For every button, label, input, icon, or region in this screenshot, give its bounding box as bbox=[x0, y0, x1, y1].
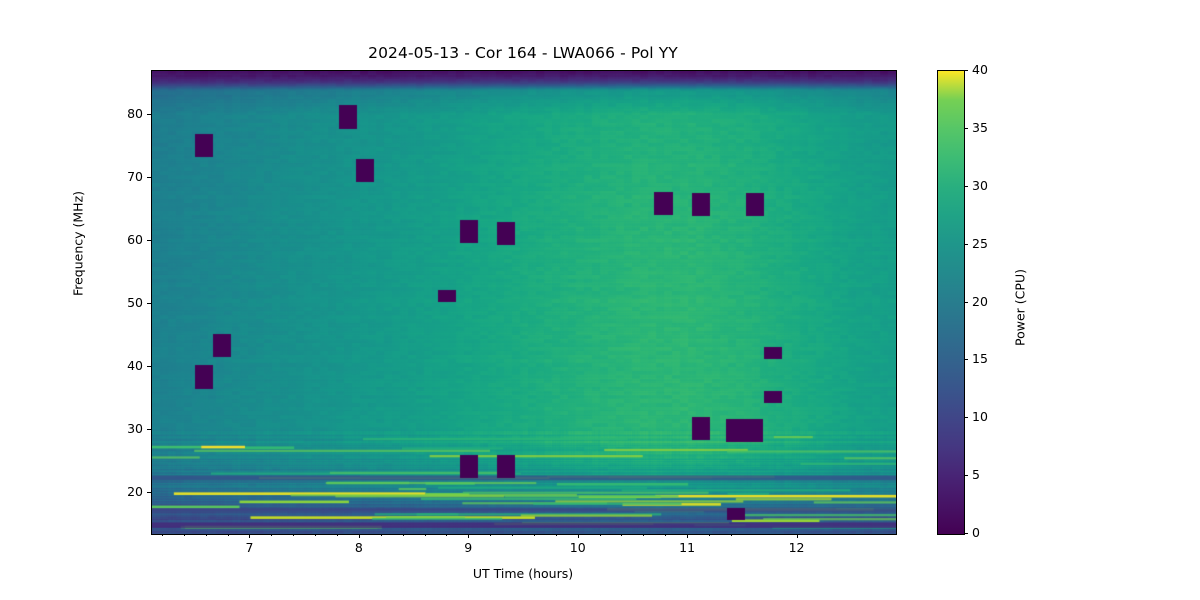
colorbar-label: Power (CPU) bbox=[1013, 188, 1028, 428]
colorbar-tick-label: 0 bbox=[972, 525, 980, 540]
x-tick-label: 10 bbox=[558, 540, 598, 555]
y-tick-mark bbox=[147, 303, 151, 304]
x-minor-tick bbox=[731, 534, 732, 536]
x-tick-label: 8 bbox=[339, 540, 379, 555]
chart-title: 2024-05-13 - Cor 164 - LWA066 - Pol YY bbox=[0, 44, 1046, 62]
x-tick-mark bbox=[578, 534, 579, 538]
x-minor-tick bbox=[425, 534, 426, 536]
y-tick-mark bbox=[147, 366, 151, 367]
colorbar-tick-mark bbox=[964, 186, 968, 187]
x-tick-label: 9 bbox=[448, 540, 488, 555]
x-minor-tick bbox=[271, 534, 272, 536]
y-tick-mark bbox=[147, 492, 151, 493]
colorbar-tick-label: 15 bbox=[972, 351, 988, 366]
colorbar-tick-mark bbox=[964, 533, 968, 534]
dynamic-spectrum-image bbox=[152, 71, 896, 534]
y-axis-label: Frequency (MHz) bbox=[71, 114, 86, 374]
x-minor-tick bbox=[162, 534, 163, 536]
x-minor-tick bbox=[556, 534, 557, 536]
y-tick-label: 20 bbox=[103, 484, 143, 499]
y-tick-mark bbox=[147, 114, 151, 115]
x-minor-tick bbox=[665, 534, 666, 536]
colorbar-tick-label: 25 bbox=[972, 236, 988, 251]
y-tick-label: 70 bbox=[103, 169, 143, 184]
x-minor-tick bbox=[337, 534, 338, 536]
x-tick-mark bbox=[687, 534, 688, 538]
x-minor-tick bbox=[621, 534, 622, 536]
colorbar-tick-mark bbox=[964, 475, 968, 476]
y-tick-label: 40 bbox=[103, 358, 143, 373]
y-tick-mark bbox=[147, 240, 151, 241]
y-tick-label: 60 bbox=[103, 232, 143, 247]
colorbar-tick-mark bbox=[964, 359, 968, 360]
colorbar-tick-mark bbox=[964, 244, 968, 245]
x-tick-mark bbox=[797, 534, 798, 538]
y-tick-mark bbox=[147, 177, 151, 178]
colorbar-tick-mark bbox=[964, 302, 968, 303]
y-tick-label: 30 bbox=[103, 421, 143, 436]
x-minor-tick bbox=[206, 534, 207, 536]
x-tick-label: 11 bbox=[667, 540, 707, 555]
colorbar-tick-mark bbox=[964, 70, 968, 71]
x-minor-tick bbox=[293, 534, 294, 536]
x-minor-tick bbox=[534, 534, 535, 536]
x-tick-label: 12 bbox=[777, 540, 817, 555]
colorbar-tick-mark bbox=[964, 417, 968, 418]
colorbar-gradient bbox=[937, 70, 965, 535]
y-tick-mark bbox=[147, 429, 151, 430]
figure-canvas: 2024-05-13 - Cor 164 - LWA066 - Pol YY F… bbox=[0, 0, 1200, 600]
x-tick-label: 7 bbox=[229, 540, 269, 555]
colorbar-tick-label: 40 bbox=[972, 62, 988, 77]
x-axis-label: UT Time (hours) bbox=[151, 566, 895, 581]
x-minor-tick bbox=[184, 534, 185, 536]
y-tick-label: 80 bbox=[103, 106, 143, 121]
x-minor-tick bbox=[446, 534, 447, 536]
y-tick-label: 50 bbox=[103, 295, 143, 310]
colorbar-tick-label: 10 bbox=[972, 409, 988, 424]
spectrogram-axes bbox=[151, 70, 897, 535]
x-minor-tick bbox=[403, 534, 404, 536]
x-tick-mark bbox=[359, 534, 360, 538]
x-minor-tick bbox=[512, 534, 513, 536]
colorbar-tick-label: 35 bbox=[972, 120, 988, 135]
x-minor-tick bbox=[315, 534, 316, 536]
x-minor-tick bbox=[709, 534, 710, 536]
colorbar-tick-label: 20 bbox=[972, 294, 988, 309]
colorbar-tick-label: 5 bbox=[972, 467, 980, 482]
x-minor-tick bbox=[643, 534, 644, 536]
x-tick-mark bbox=[468, 534, 469, 538]
colorbar-tick-label: 30 bbox=[972, 178, 988, 193]
x-tick-mark bbox=[249, 534, 250, 538]
x-minor-tick bbox=[228, 534, 229, 536]
x-minor-tick bbox=[600, 534, 601, 536]
x-minor-tick bbox=[490, 534, 491, 536]
colorbar-tick-mark bbox=[964, 128, 968, 129]
x-minor-tick bbox=[381, 534, 382, 536]
